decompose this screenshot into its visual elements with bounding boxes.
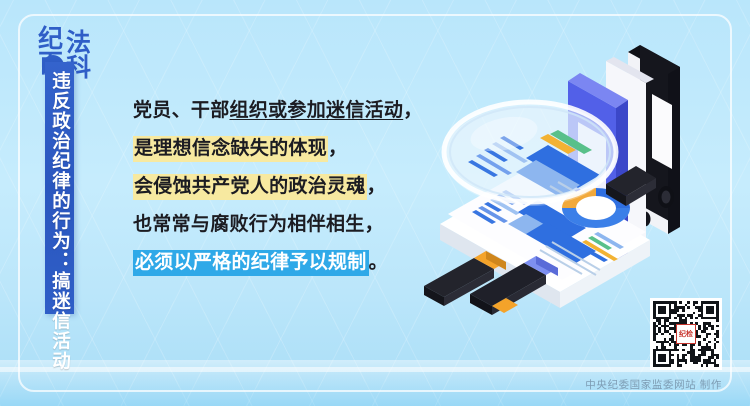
copy-line-1-underlined: 组织或参加迷信活动 <box>230 100 404 121</box>
banner-title-text: 违反政治纪律的行为：搞迷信活动 <box>46 62 74 314</box>
copy-line-1-prefix: 党员、干部 <box>133 100 230 121</box>
copy-line-1: 党员、干部组织或参加迷信活动， <box>133 100 433 121</box>
copy-line-2: 是理想信念缺失的体现， <box>133 138 433 159</box>
poster-canvas: 纪 法 百 科 违反政治纪律的行为：搞迷信活动 党员、干部组织或参加迷信活动， … <box>0 0 750 406</box>
copy-line-5-highlight: 必须以严格的纪律予以规制 <box>133 250 369 276</box>
copy-line-3: 会侵蚀共产党人的政治灵魂， <box>133 176 433 197</box>
main-copy-block: 党员、干部组织或参加迷信活动， 是理想信念缺失的体现， 会侵蚀共产党人的政治灵魂… <box>133 100 433 273</box>
vertical-title-banner: 违反政治纪律的行为：搞迷信活动 <box>45 62 74 314</box>
copy-line-2-highlight: 是理想信念缺失的体现 <box>133 136 328 162</box>
copy-line-3-highlight: 会侵蚀共产党人的政治灵魂 <box>133 174 367 200</box>
qr-center-logo-text: 纪检 <box>679 331 693 338</box>
copy-line-2-tail: ， <box>328 138 347 159</box>
background-bottom-line <box>0 367 750 372</box>
copy-line-5: 必须以严格的纪律予以规制。 <box>133 252 433 273</box>
footer-credit: 中央纪委国家监委网站 制作 <box>585 377 722 392</box>
logo-char-ji: 纪 <box>38 27 63 52</box>
qr-center-logo: 纪检 <box>676 324 696 344</box>
isometric-illustration <box>400 34 730 334</box>
logo-char-fa: 法 <box>66 31 91 56</box>
qr-code[interactable]: 纪检 <box>650 298 722 370</box>
copy-line-5-tail: 。 <box>369 252 388 273</box>
copy-line-4: 也常常与腐败行为相伴相生， <box>133 214 433 235</box>
copy-line-3-tail: ， <box>367 176 386 197</box>
